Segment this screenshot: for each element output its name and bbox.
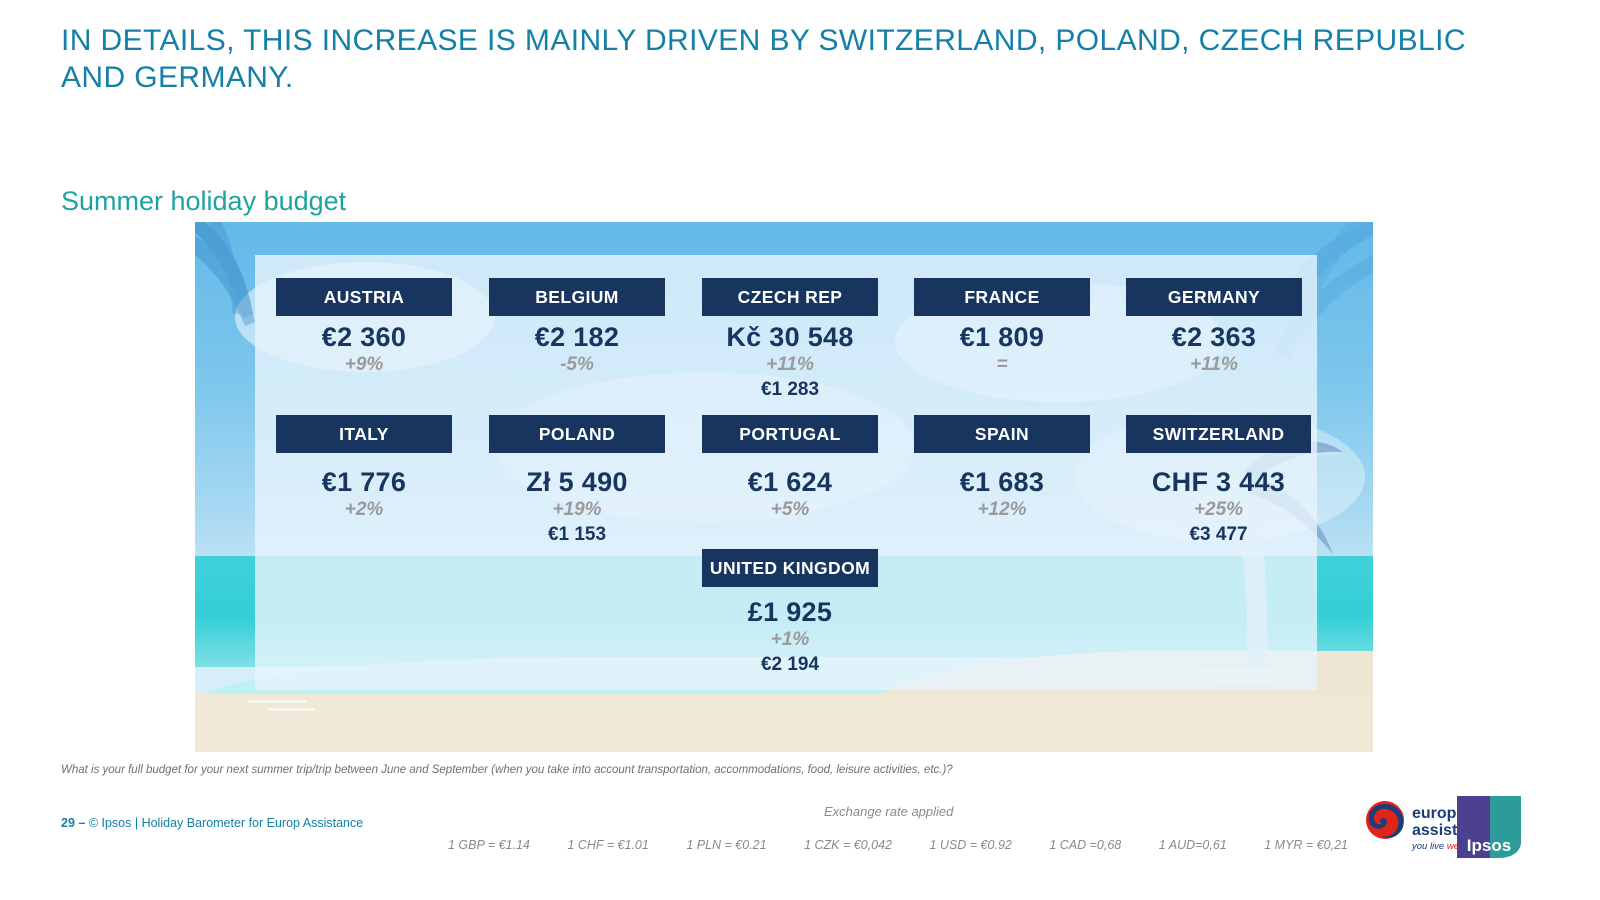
- page-title: IN DETAILS, THIS INCREASE IS MAINLY DRIV…: [61, 22, 1481, 96]
- country-card-united-kingdom[interactable]: UNITED KINGDOM £1 925 +1% €2 194: [702, 549, 878, 676]
- country-card-belgium[interactable]: BELGIUM €2 182 -5%: [489, 278, 665, 376]
- country-name-badge: UNITED KINGDOM: [702, 549, 878, 587]
- copyright-text: © Ipsos | Holiday Barometer for Europ As…: [89, 816, 363, 830]
- wave-line: [247, 700, 307, 703]
- section-subtitle: Summer holiday budget: [61, 186, 346, 217]
- country-card-germany[interactable]: GERMANY €2 363 +11%: [1126, 278, 1302, 376]
- exchange-rate-item: 1 USD = €0.92: [930, 838, 1012, 852]
- country-card-italy[interactable]: ITALY €1 776 +2%: [276, 415, 452, 521]
- country-card-spain[interactable]: SPAIN €1 683 +12%: [914, 415, 1090, 521]
- budget-delta: +2%: [276, 499, 452, 521]
- budget-amount: €2 182: [489, 322, 665, 353]
- exchange-rate-list: 1 GBP = €1.14 1 CHF = €1.01 1 PLN = €0.2…: [448, 838, 1348, 852]
- budget-amount: £1 925: [702, 597, 878, 628]
- country-name-badge: ITALY: [276, 415, 452, 453]
- budget-delta: +25%: [1126, 499, 1311, 521]
- budget-converted: €1 153: [489, 524, 665, 546]
- budget-delta: +9%: [276, 354, 452, 376]
- country-name-badge: BELGIUM: [489, 278, 665, 316]
- ea-tagline-a: you live: [1412, 841, 1447, 852]
- country-card-austria[interactable]: AUSTRIA €2 360 +9%: [276, 278, 452, 376]
- country-name-badge: POLAND: [489, 415, 665, 453]
- country-name-badge: SWITZERLAND: [1126, 415, 1311, 453]
- exchange-rate-item: 1 CAD =0,68: [1049, 838, 1121, 852]
- exchange-rate-item: 1 CHF = €1.01: [567, 838, 648, 852]
- ipsos-wordmark: Ipsos: [1467, 836, 1511, 855]
- budget-delta: +12%: [914, 499, 1090, 521]
- budget-delta: =: [914, 354, 1090, 376]
- budget-amount: €2 360: [276, 322, 452, 353]
- country-card-switzerland[interactable]: SWITZERLAND CHF 3 443 +25% €3 477: [1126, 415, 1311, 546]
- budget-amount: €1 809: [914, 322, 1090, 353]
- survey-question-footnote: What is your full budget for your next s…: [61, 764, 1361, 776]
- exchange-rate-item: 1 PLN = €0.21: [686, 838, 766, 852]
- budget-amount: CHF 3 443: [1126, 467, 1311, 498]
- budget-delta: +1%: [702, 629, 878, 651]
- country-name-badge: PORTUGAL: [702, 415, 878, 453]
- budget-amount: €1 624: [702, 467, 878, 498]
- budget-converted: €3 477: [1126, 524, 1311, 546]
- country-name-badge: GERMANY: [1126, 278, 1302, 316]
- budget-amount: Zł 5 490: [489, 467, 665, 498]
- budget-converted: €2 194: [702, 654, 878, 676]
- exchange-rate-item: 1 GBP = €1.14: [448, 838, 530, 852]
- budget-delta: +19%: [489, 499, 665, 521]
- country-name-badge: FRANCE: [914, 278, 1090, 316]
- budget-delta: +11%: [1126, 354, 1302, 376]
- page-number: 29 –: [61, 816, 85, 830]
- budget-amount: €2 363: [1126, 322, 1302, 353]
- country-card-portugal[interactable]: PORTUGAL €1 624 +5%: [702, 415, 878, 521]
- budget-delta: +5%: [702, 499, 878, 521]
- exchange-rate-item: 1 AUD=0,61: [1159, 838, 1227, 852]
- country-card-france[interactable]: FRANCE €1 809 =: [914, 278, 1090, 376]
- country-card-poland[interactable]: POLAND Zł 5 490 +19% €1 153: [489, 415, 665, 546]
- country-name-badge: SPAIN: [914, 415, 1090, 453]
- exchange-rate-title: Exchange rate applied: [824, 804, 953, 819]
- ipsos-logo-icon: Ipsos: [1457, 796, 1521, 858]
- wave-line: [267, 708, 315, 711]
- country-name-badge: AUSTRIA: [276, 278, 452, 316]
- budget-amount: €1 776: [276, 467, 452, 498]
- country-card-czech-rep[interactable]: CZECH REP Kč 30 548 +11% €1 283: [702, 278, 878, 401]
- sand-layer: [195, 694, 1373, 752]
- country-name-badge: CZECH REP: [702, 278, 878, 316]
- budget-converted: €1 283: [702, 379, 878, 401]
- budget-amount: Kč 30 548: [702, 322, 878, 353]
- budget-amount: €1 683: [914, 467, 1090, 498]
- budget-delta: +11%: [702, 354, 878, 376]
- exchange-rate-item: 1 MYR = €0,21: [1264, 838, 1348, 852]
- copyright-line: 29 – © Ipsos | Holiday Barometer for Eur…: [61, 816, 363, 830]
- budget-delta: -5%: [489, 354, 665, 376]
- exchange-rate-item: 1 CZK = €0,042: [804, 838, 892, 852]
